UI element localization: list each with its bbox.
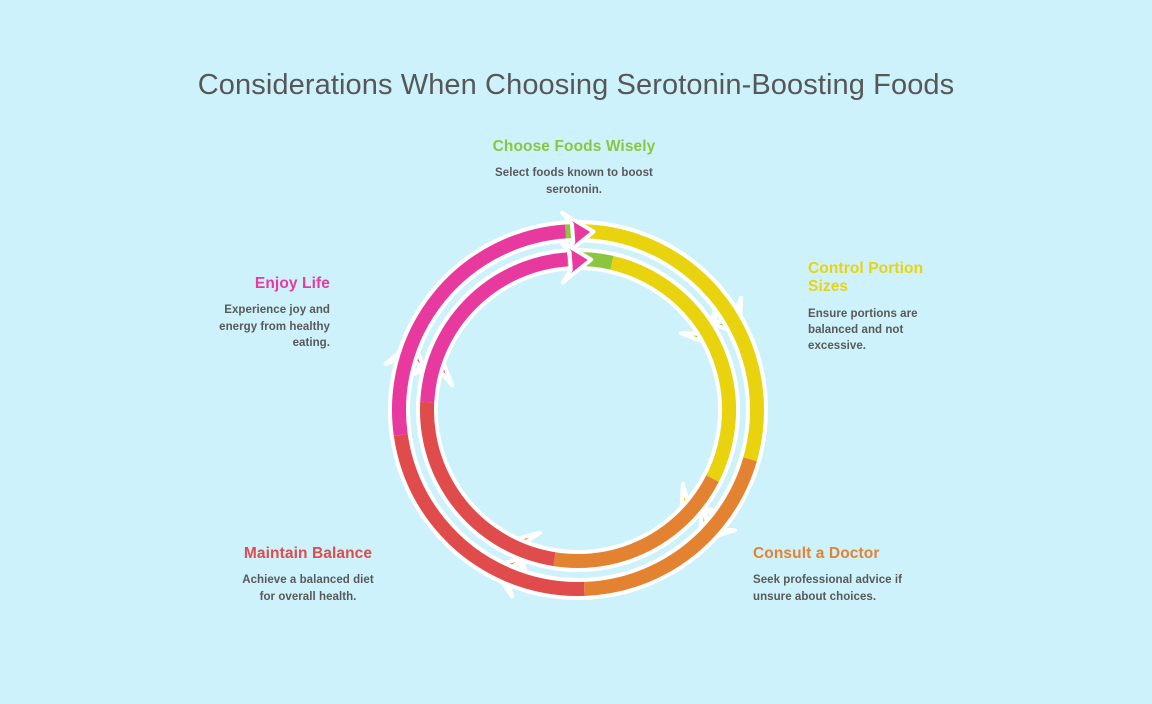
cycle-step-description: Seek professional advice if unsure about… — [753, 572, 913, 605]
cycle-step-description: Ensure portions are balanced and not exc… — [808, 306, 958, 355]
cycle-diagram — [0, 0, 1152, 704]
cycle-step-choose-foods-wisely[interactable]: Choose Foods Wisely Select foods known t… — [474, 138, 674, 198]
cycle-step-title: Choose Foods Wisely — [474, 138, 674, 156]
cycle-step-maintain-balance[interactable]: Maintain Balance Achieve a balanced diet… — [233, 545, 383, 605]
cycle-arrow-layer — [386, 213, 757, 597]
cycle-step-title: Control Portion Sizes — [808, 260, 958, 297]
cycle-step-title: Consult a Doctor — [753, 545, 913, 563]
cycle-step-consult-a-doctor[interactable]: Consult a Doctor Seek professional advic… — [753, 545, 913, 605]
infographic-canvas: Considerations When Choosing Serotonin-B… — [0, 0, 1152, 704]
cycle-step-description: Achieve a balanced diet for overall heal… — [233, 572, 383, 605]
cycle-step-description: Select foods known to boost serotonin. — [474, 165, 674, 198]
cycle-step-enjoy-life[interactable]: Enjoy Life Experience joy and energy fro… — [195, 275, 330, 351]
cycle-arrow-enjoy-life — [427, 241, 591, 402]
cycle-step-control-portion-sizes[interactable]: Control Portion Sizes Ensure portions ar… — [808, 260, 958, 355]
cycle-step-description: Experience joy and energy from healthy e… — [195, 302, 330, 351]
cycle-step-title: Maintain Balance — [233, 545, 383, 563]
cycle-step-title: Enjoy Life — [195, 275, 330, 293]
